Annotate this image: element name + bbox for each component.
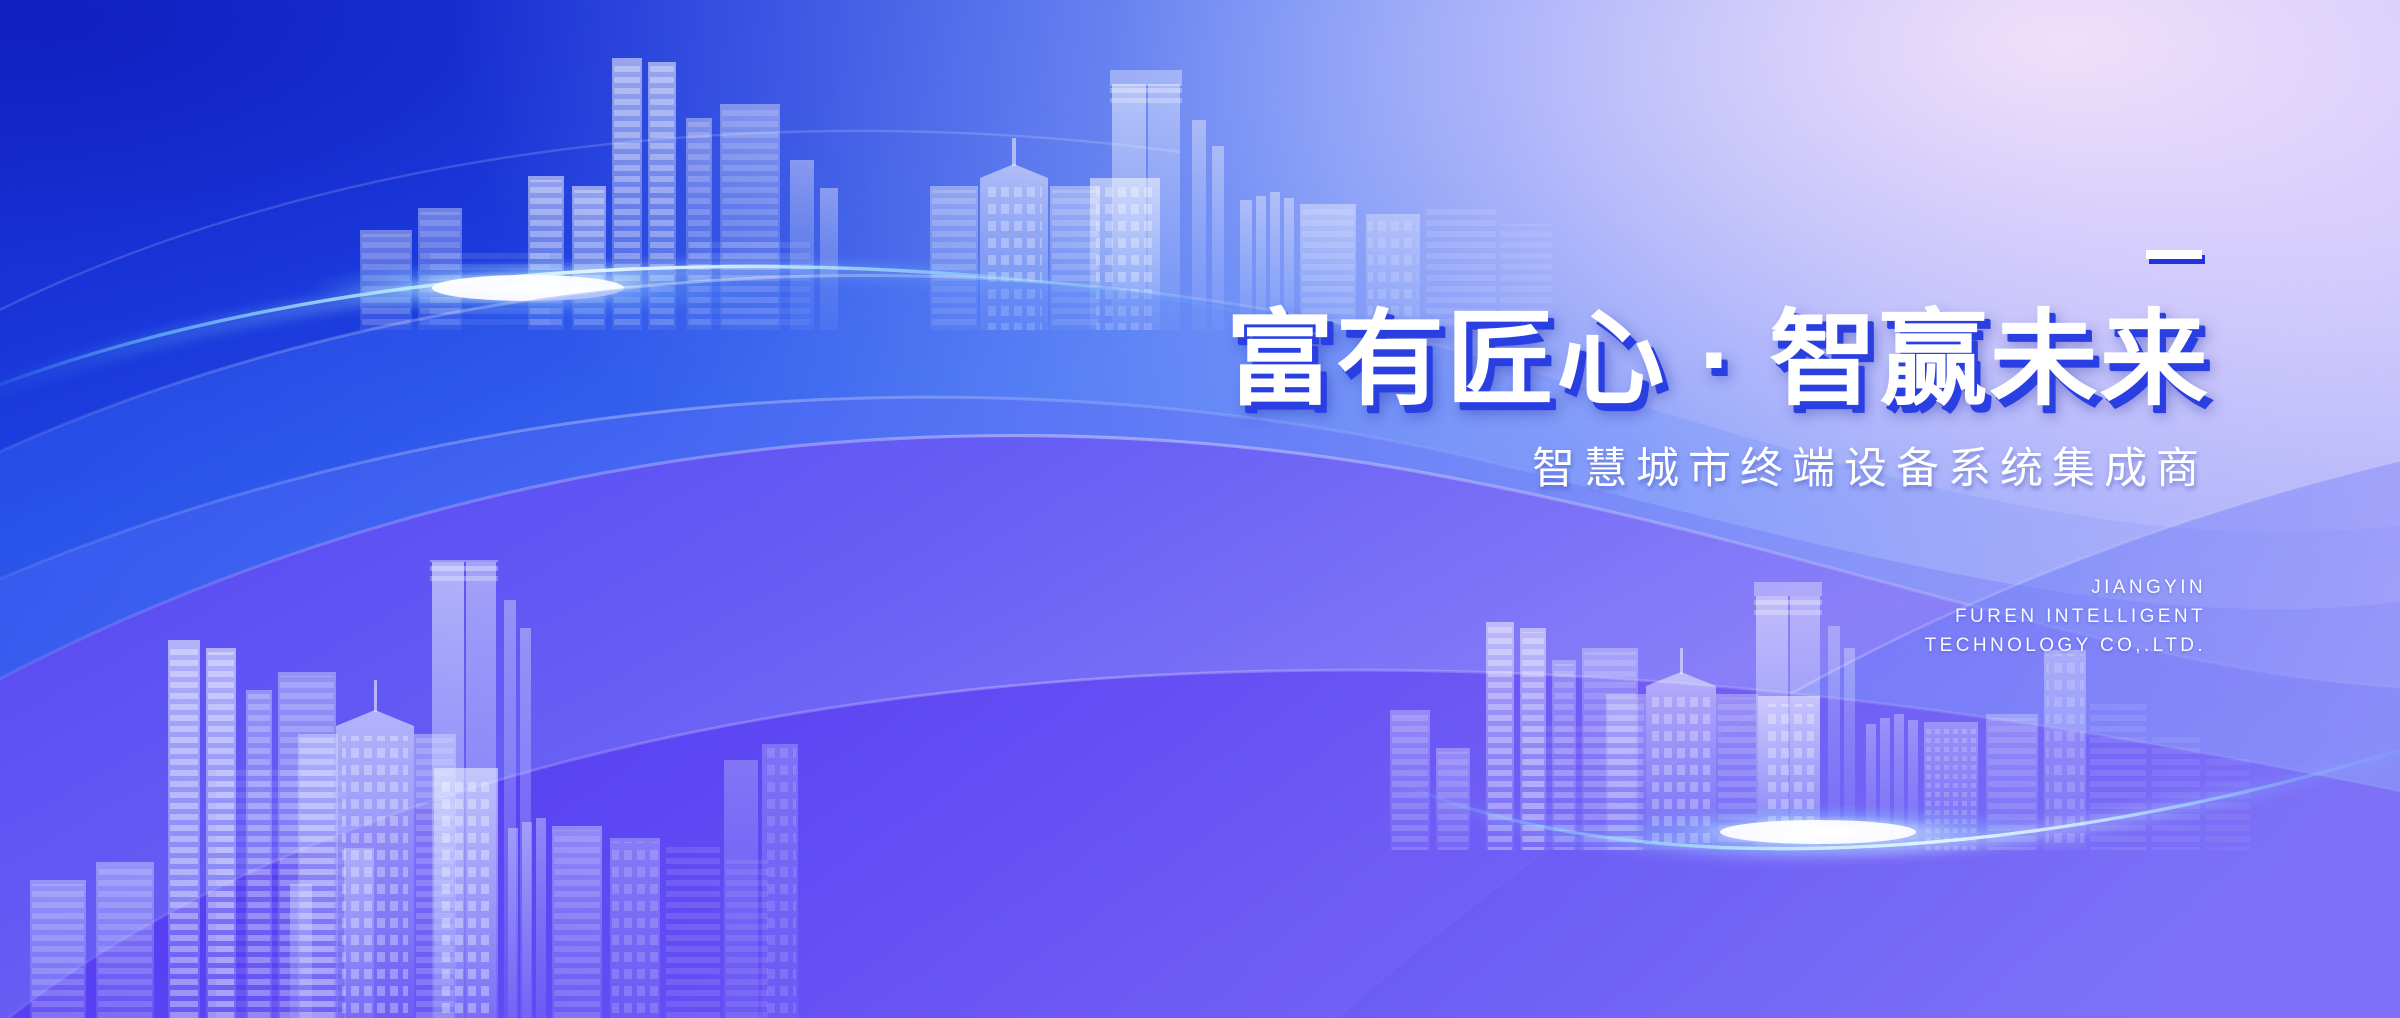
dash-rule-icon bbox=[2146, 250, 2202, 259]
page-title: 富有匠心 · 智赢未来 bbox=[1030, 308, 2210, 412]
subtitle: 智慧城市终端设备系统集成商 bbox=[1075, 434, 2208, 496]
company-name-line-2: FUREN INTELLIGENT bbox=[1075, 603, 2206, 632]
headline-block: 富有匠心 · 智赢未来 智慧城市终端设备系统集成商 JIANGYIN FUREN… bbox=[1075, 250, 2210, 661]
promo-banner: 富有匠心 · 智赢未来 智慧城市终端设备系统集成商 JIANGYIN FUREN… bbox=[0, 0, 2400, 1018]
company-name: JIANGYIN FUREN INTELLIGENT TECHNOLOGY CO… bbox=[1075, 574, 2206, 661]
company-name-line-1: JIANGYIN bbox=[1075, 574, 2206, 603]
company-name-line-3: TECHNOLOGY CO,.LTD. bbox=[1075, 632, 2206, 661]
